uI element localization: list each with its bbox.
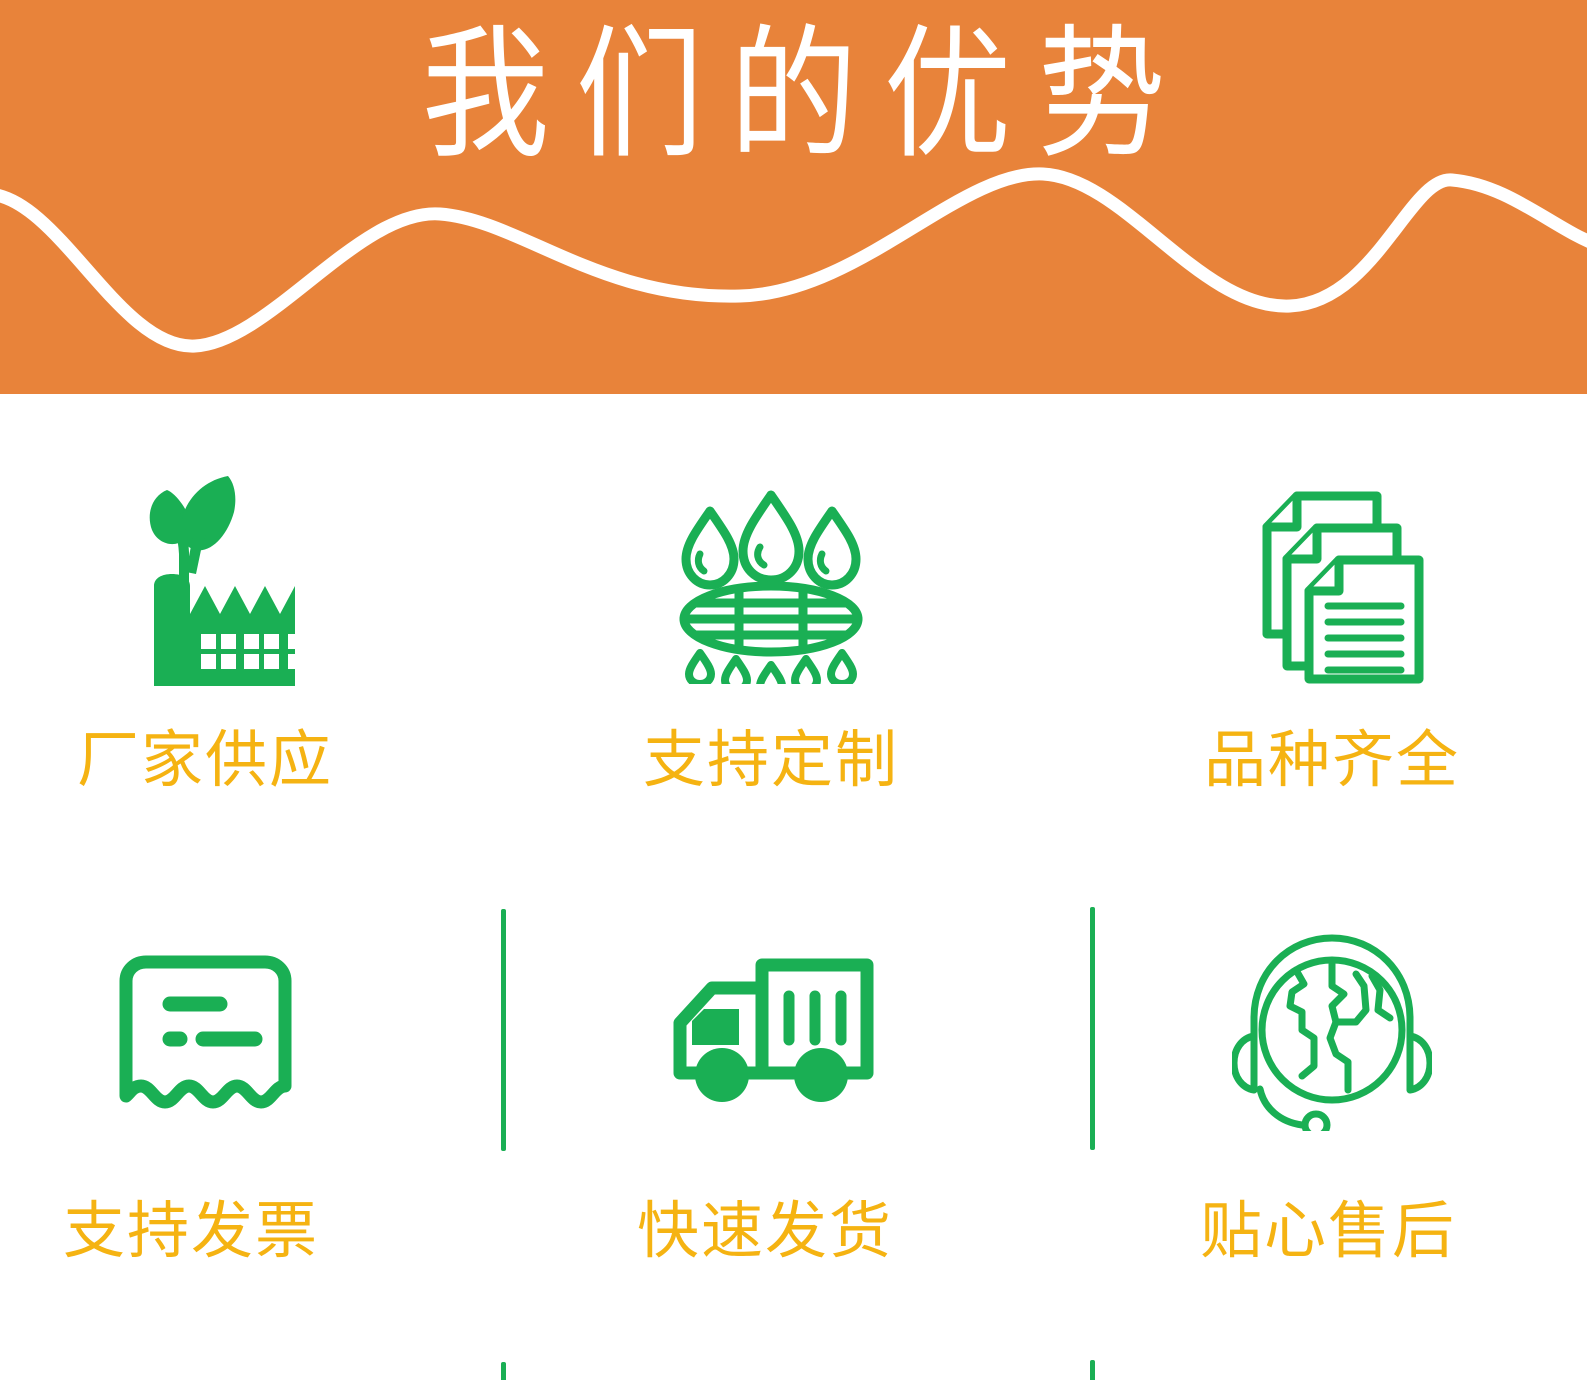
feature-item-after-sales[interactable]: 贴心售后 — [1102, 883, 1562, 1318]
header-banner: 我们的优势 — [0, 0, 1587, 394]
feature-item-full-variety[interactable]: 品种齐全 — [1102, 436, 1562, 871]
water-drops-filter-icon — [541, 436, 1001, 726]
feature-item-customization[interactable]: 支持定制 — [541, 436, 1001, 871]
feature-label: 支持发票 — [0, 1201, 421, 1263]
stacked-documents-icon — [1102, 436, 1562, 726]
invoice-receipt-icon — [0, 883, 435, 1173]
feature-row-1: 厂家供应 — [0, 436, 1587, 871]
feature-label: 品种齐全 — [1102, 730, 1562, 792]
feature-item-invoice-support[interactable]: 支持发票 — [0, 883, 435, 1318]
feature-label: 厂家供应 — [0, 730, 435, 792]
feature-item-factory-supply[interactable]: 厂家供应 — [0, 436, 435, 871]
feature-label: 贴心售后 — [1098, 1201, 1558, 1263]
eco-factory-icon — [0, 436, 435, 726]
feature-row-2: 支持发票 — [0, 883, 1587, 1318]
column-divider — [1090, 1360, 1095, 1380]
advantages-infographic: 我们的优势 — [0, 0, 1587, 1380]
delivery-truck-icon — [541, 883, 1001, 1173]
feature-grid: 厂家供应 — [0, 394, 1587, 1380]
column-divider — [501, 1362, 506, 1380]
column-divider — [501, 909, 506, 1151]
column-divider — [1090, 907, 1095, 1150]
globe-headset-support-icon — [1102, 883, 1562, 1173]
feature-item-fast-shipping[interactable]: 快速发货 — [541, 883, 1001, 1318]
feature-label: 快速发货 — [535, 1201, 995, 1263]
wavy-line-divider-icon — [0, 150, 1587, 394]
feature-label: 支持定制 — [541, 730, 1001, 792]
